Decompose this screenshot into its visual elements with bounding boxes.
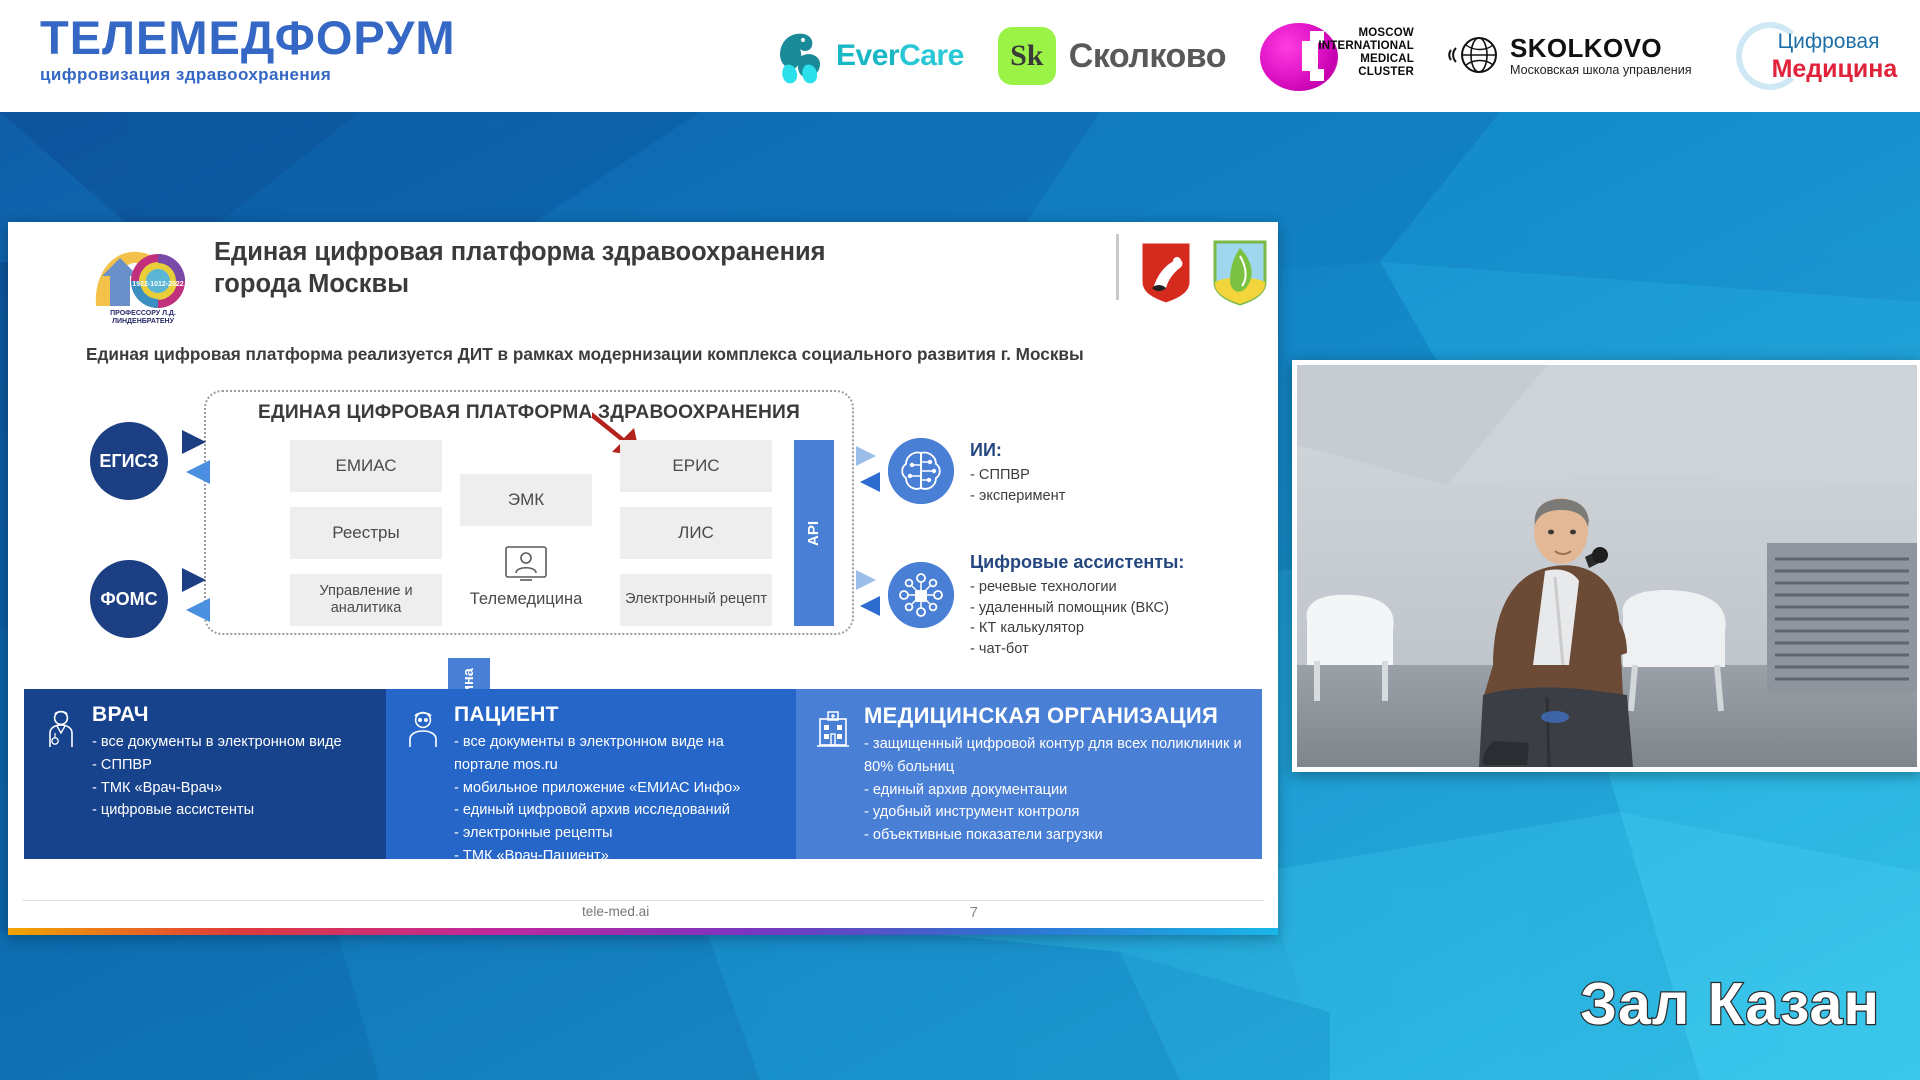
patient-icon [404, 709, 442, 749]
emblem-group [1138, 240, 1268, 306]
dzm-emblem-icon [1212, 240, 1268, 306]
moscow-international-medical-cluster-logo: MOSCOW INTERNATIONAL MEDICAL CLUSTER [1260, 15, 1412, 97]
module-emk: ЭМК [460, 474, 592, 526]
ai-item-1: - СППВР [970, 465, 1260, 486]
panel-doctor-title: ВРАЧ [92, 703, 370, 727]
evercare-bird-icon [770, 25, 832, 87]
panel-patient-title: ПАЦИЕНТ [454, 703, 780, 727]
panel-doctor: ВРАЧ - все документы в электронном виде … [24, 689, 386, 859]
mimc-line-1: MOSCOW [1318, 27, 1414, 40]
digital-medicine-logo: Цифровая Медицина [1726, 14, 1904, 98]
skolkovo-wordmark: Сколково [1069, 37, 1226, 76]
mimc-cut-shape [1302, 41, 1318, 71]
list-item: - цифровые ассистенты [92, 799, 370, 822]
ai-text-block: ИИ: - СППВР - эксперимент [970, 440, 1260, 506]
slide-title: Единая цифровая платформа здравоохранени… [214, 236, 864, 300]
event-header-bar: ТЕЛЕМЕДФОРУМ цифровизация здравоохранени… [0, 0, 1920, 112]
presentation-slide: 1922-1012-2022 ПРОФЕССОРУ Л.Д. ЛИНДЕНБРА… [8, 222, 1278, 935]
telemedforum-brand: ТЕЛЕМЕДФОРУМ цифровизация здравоохранени… [40, 14, 456, 85]
arrow-pair-ai-icon [854, 444, 884, 496]
list-item: - СППВР [92, 754, 370, 777]
list-item: - электронные рецепты [454, 822, 780, 845]
skolkovo-sk-badge: Sk [998, 27, 1056, 85]
svg-text:1922-1012-2022: 1922-1012-2022 [132, 281, 183, 288]
evercare-text-care: Care [899, 39, 964, 72]
footer-divider [22, 900, 1264, 901]
list-item: - все документы в электронном виде [92, 731, 370, 754]
skolkovo-school-logo: SKOLKOVO Московская школа управления [1446, 28, 1692, 84]
panel-patient-list: - все документы в электронном виде на по… [454, 731, 780, 868]
screen: ТЕЛЕМЕДФОРУМ цифровизация здравоохранени… [0, 0, 1920, 1080]
panel-patient: ПАЦИЕНТ - все документы в электронном ви… [386, 689, 796, 859]
digital-medicine-word-2: Медицина [1772, 55, 1898, 84]
module-upravlenie-analitika: Управление и аналитика [290, 574, 442, 626]
api-label: API [794, 440, 834, 626]
evercare-logo: EverCare [770, 25, 964, 87]
telemedicine-icon [502, 544, 550, 586]
sponsor-logos: EverCare Sk Сколково MOSCOW INTERNATIONA… [770, 0, 1904, 112]
page-number: 7 [970, 904, 978, 921]
brand-title: ТЕЛЕМЕДФОРУМ [40, 14, 456, 61]
module-eris: ЕРИС [620, 440, 772, 492]
panel-medical-organization-title: МЕДИЦИНСКАЯ ОРГАНИЗАЦИЯ [864, 703, 1246, 729]
list-item: - все документы в электронном виде на по… [454, 731, 780, 777]
module-lis: ЛИС [620, 507, 772, 559]
globe-icon [1446, 28, 1502, 84]
module-reestry: Реестры [290, 507, 442, 559]
ai-heading: ИИ: [970, 440, 1260, 462]
footer-url: tele-med.ai [582, 904, 649, 919]
assistants-heading: Цифровые ассистенты: [970, 552, 1270, 574]
ai-item-2: - эксперимент [970, 486, 1260, 507]
doctor-icon [42, 709, 80, 749]
assistants-text-block: Цифровые ассистенты: - речевые технологи… [970, 552, 1270, 660]
hall-label: Зал Казан [1580, 970, 1880, 1038]
evercare-text-ever: Ever [836, 39, 899, 72]
arrow-pair-assistants-icon [854, 568, 884, 620]
list-item: - объективные показатели загрузки [864, 824, 1246, 847]
brain-ai-icon [888, 438, 954, 504]
list-item: - ТМК «Врач-Врач» [92, 777, 370, 800]
source-circle-foms: ФОМС [90, 560, 168, 638]
mimc-line-2: INTERNATIONAL [1318, 40, 1414, 53]
slide-header: 1922-1012-2022 ПРОФЕССОРУ Л.Д. ЛИНДЕНБРА… [8, 222, 1278, 332]
panel-doctor-list: - все документы в электронном виде - СПП… [92, 731, 370, 822]
brand-subtitle: цифровизация здравоохранения [40, 65, 456, 85]
source-circle-egisz: ЕГИСЗ [90, 422, 168, 500]
jubilee-caption: ПРОФЕССОРУ Л.Д. ЛИНДЕНБРАТЕНУ [80, 310, 206, 327]
assistants-item-2: - удаленный помощник (ВКС) [970, 598, 1270, 619]
skolkovo-school-tagline: Московская школа управления [1510, 64, 1692, 77]
moscow-coat-of-arms-icon [1138, 240, 1194, 306]
integration-bus: Интеграционная шина [228, 440, 270, 622]
module-elektronnyi-recept: Электронный рецепт [620, 574, 772, 626]
digital-assistant-network-icon [888, 562, 954, 628]
panel-medical-organization: МЕДИЦИНСКАЯ ОРГАНИЗАЦИЯ - защищенный циф… [796, 689, 1262, 859]
header-divider [1116, 234, 1119, 300]
hospital-icon [814, 709, 852, 749]
telemedicine-label: Телемедицина [448, 590, 604, 609]
list-item: - защищенный цифровой контур для всех по… [864, 733, 1246, 779]
mimc-wordmark: MOSCOW INTERNATIONAL MEDICAL CLUSTER [1318, 27, 1414, 79]
skolkovo-school-name: SKOLKOVO [1510, 35, 1692, 62]
assistants-item-3: - КТ калькулятор [970, 618, 1270, 639]
assistants-item-1: - речевые технологии [970, 577, 1270, 598]
list-item: - единый архив документации [864, 779, 1246, 802]
evercare-wordmark: EverCare [836, 39, 964, 73]
panel-medical-organization-list: - защищенный цифровой контур для всех по… [864, 733, 1246, 847]
speaker-video-feed[interactable] [1292, 360, 1920, 772]
slide-lead-text: Единая цифровая платформа реализуется ДИ… [86, 344, 1206, 365]
list-item: - удобный инструмент контроля [864, 801, 1246, 824]
platform-box-title: ЕДИНАЯ ЦИФРОВАЯ ПЛАТФОРМА ЗДРАВООХРАНЕНИ… [204, 402, 854, 424]
digital-medicine-word-1: Цифровая [1778, 30, 1880, 54]
list-item: - ТМК «Врач-Пациент» [454, 845, 780, 868]
mimc-line-4: CLUSTER [1318, 66, 1414, 79]
skolkovo-logo: Sk Сколково [998, 27, 1226, 85]
list-item: - мобильное приложение «ЕМИАС Инфо» [454, 777, 780, 800]
assistants-item-4: - чат-бот [970, 639, 1270, 660]
audience-panels: ВРАЧ - все документы в электронном виде … [24, 689, 1262, 859]
arrow-pair-egisz-icon [180, 428, 214, 488]
arrow-pair-foms-icon [180, 566, 214, 626]
list-item: - единый цифровой архив исследований [454, 799, 780, 822]
api-bar: API [794, 440, 834, 626]
skolkovo-school-wordmark: SKOLKOVO Московская школа управления [1510, 35, 1692, 78]
module-emias: ЕМИАС [290, 440, 442, 492]
mimc-line-3: MEDICAL [1318, 53, 1414, 66]
slide-color-strip [8, 928, 1278, 935]
